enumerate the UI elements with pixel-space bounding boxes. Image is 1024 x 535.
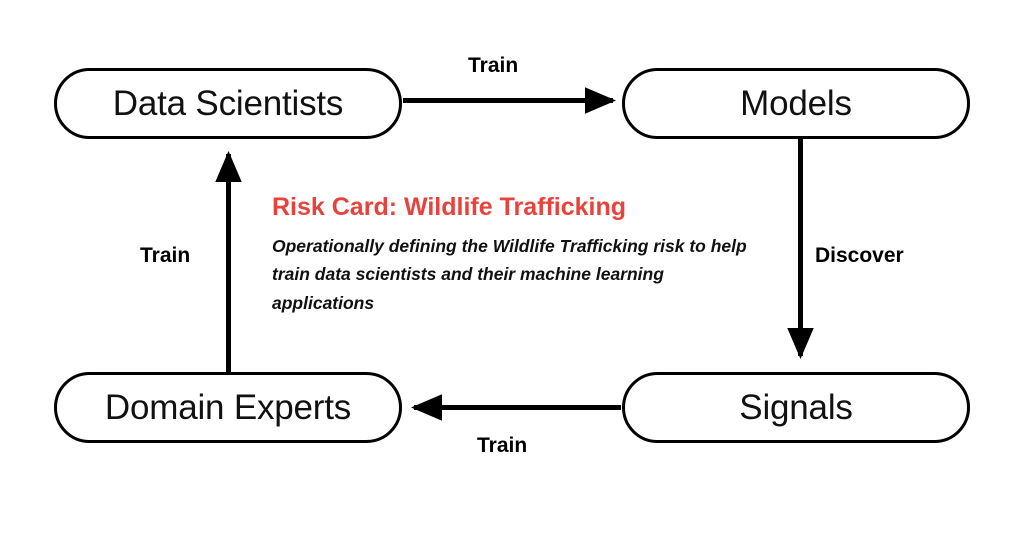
node-signals[interactable]: Signals xyxy=(622,372,970,443)
diagram-canvas: Data Scientists Models Signals Domain Ex… xyxy=(0,0,1024,535)
edge-label-data-scientists-to-models: Train xyxy=(468,55,518,76)
risk-card-annotation: Risk Card: Wildlife Trafficking Operatio… xyxy=(272,194,772,318)
edge-label-models-to-signals: Discover xyxy=(815,245,904,266)
node-data-scientists[interactable]: Data Scientists xyxy=(54,68,402,139)
node-models[interactable]: Models xyxy=(622,68,970,139)
node-signals-label: Signals xyxy=(739,390,852,425)
edge-label-domain-experts-to-data-scientists: Train xyxy=(140,245,190,266)
risk-card-title: Risk Card: Wildlife Trafficking xyxy=(272,194,772,222)
node-domain-experts-label: Domain Experts xyxy=(105,390,351,425)
node-models-label: Models xyxy=(740,86,852,121)
node-data-scientists-label: Data Scientists xyxy=(113,86,343,121)
risk-card-description: Operationally defining the Wildlife Traf… xyxy=(272,232,767,319)
edge-label-signals-to-domain-experts: Train xyxy=(477,435,527,456)
node-domain-experts[interactable]: Domain Experts xyxy=(54,372,402,443)
